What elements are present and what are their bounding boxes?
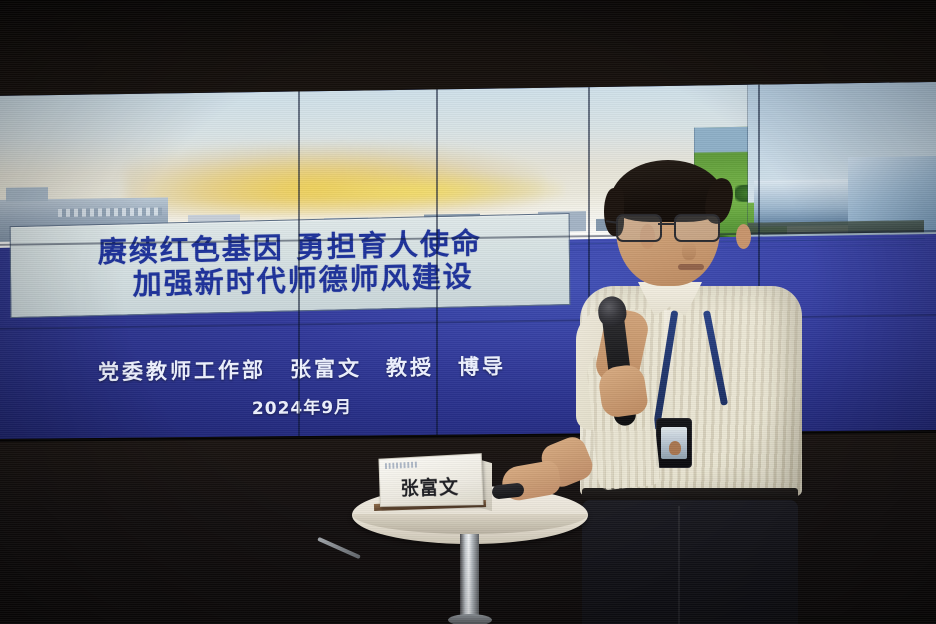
presenter-hair (610, 160, 726, 222)
id-badge (656, 418, 692, 468)
presenter-trousers (582, 500, 798, 624)
id-badge-photo (669, 441, 681, 455)
presenter (586, 160, 796, 506)
table-base (448, 614, 492, 624)
name-card: 张富文 (378, 453, 483, 507)
id-badge-card (661, 427, 687, 459)
eyeglasses-icon (614, 214, 724, 238)
eyeglasses-lens (674, 214, 720, 242)
slide-credit-block: 党委教师工作部 张富文 教授 博导 2024年9月 (0, 349, 612, 423)
eyeglasses-bridge (658, 223, 676, 225)
photo-scene: 赓续红色基因 勇担育人使命 加强新时代师德师风建设 党委教师工作部 张富文 教授… (0, 0, 936, 624)
institution-logo-icon (385, 462, 419, 469)
eyeglasses-lens (616, 214, 662, 242)
slide-presenter-line: 党委教师工作部 张富文 教授 博导 (98, 354, 506, 384)
slide-title-card: 赓续红色基因 勇担育人使命 加强新时代师德师风建设 (10, 213, 571, 318)
table-pedestal (460, 534, 479, 624)
name-card-name: 张富文 (380, 471, 482, 501)
presenter-mouth (678, 264, 704, 270)
presenter-nose (682, 242, 696, 260)
presenter-table: 张富文 (352, 462, 588, 624)
presenter-ear (736, 224, 751, 249)
